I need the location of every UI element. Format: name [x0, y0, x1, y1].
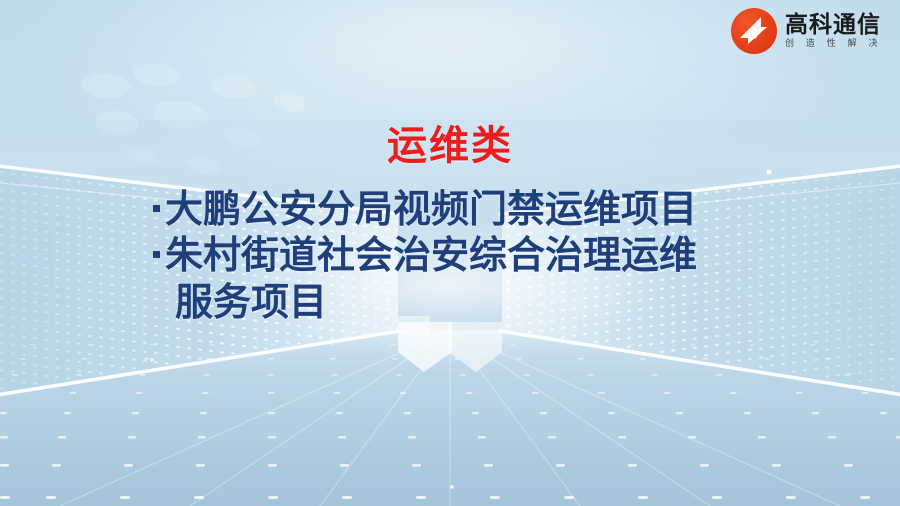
list-item-text: 朱村街道社会治安综合治理运维: [165, 233, 697, 277]
logo-title: 高科通信: [785, 14, 882, 37]
bullet-marker-icon: [153, 251, 160, 258]
list-item-text: 大鹏公安分局视频门禁运维项目: [165, 187, 697, 231]
slide-heading: 运维类: [0, 126, 900, 166]
slide-canvas: 高科通信 创 造 性 解 决 运维类 大鹏公安分局视频门禁运维项目 朱村街道社会…: [0, 0, 900, 506]
logo-subtitle: 创 造 性 解 决: [785, 40, 882, 49]
list-item: 大鹏公安分局视频门禁运维项目: [153, 186, 853, 232]
orange-circle-arrow-icon: [731, 8, 777, 54]
slide-content: 运维类 大鹏公安分局视频门禁运维项目 朱村街道社会治安综合治理运维 服务项目: [0, 0, 900, 506]
list-item-text: 服务项目: [175, 280, 327, 324]
bullet-list: 大鹏公安分局视频门禁运维项目 朱村街道社会治安综合治理运维 服务项目: [153, 186, 853, 325]
bullet-marker-icon: [153, 205, 160, 212]
list-item-continuation: 服务项目: [153, 279, 853, 325]
list-item: 朱村街道社会治安综合治理运维: [153, 232, 853, 278]
brand-logo: 高科通信 创 造 性 解 决: [731, 8, 882, 54]
